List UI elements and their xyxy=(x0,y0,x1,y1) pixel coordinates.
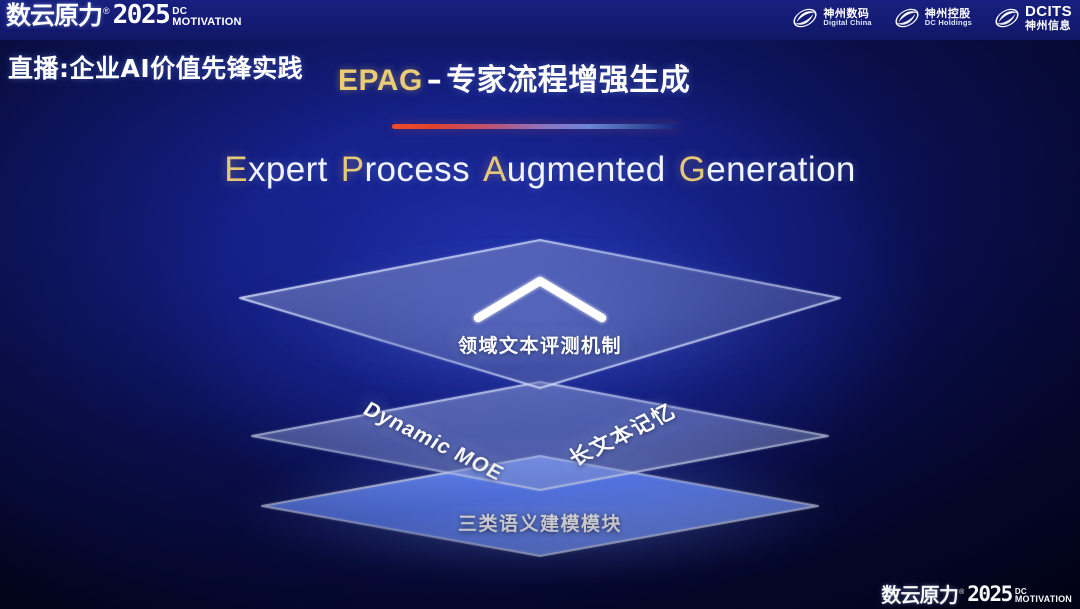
subtitle-word-capital: P xyxy=(341,150,365,189)
layer-bottom-label: 三类语义建模模块 xyxy=(0,509,1080,536)
footer-brand-dc-motivation: DC MOTIVATION xyxy=(1015,588,1072,604)
swoosh-icon xyxy=(994,5,1020,31)
subtitle-word-capital: A xyxy=(483,150,507,189)
layer-top-domain-evaluation xyxy=(240,240,840,388)
partner-name-cn: 神州信息 xyxy=(1025,20,1072,32)
layer-middle-left-label: Dynamic MOE xyxy=(358,398,508,486)
livestream-title: 直播:企业AI价值先锋实践 xyxy=(8,49,303,85)
partner-logo-dcits: DCITS 神州信息 xyxy=(994,4,1072,31)
gradient-divider xyxy=(392,124,680,129)
subtitle-word-capital: G xyxy=(679,150,707,189)
brand-logo: 数云原力 ® 2025 DC MOTIVATION xyxy=(6,2,242,28)
subtitle-word: Expert xyxy=(224,150,328,190)
partner-name-en: DCITS xyxy=(1025,4,1072,20)
footer-brand-cn: 数云原力 xyxy=(881,585,958,605)
partner-logo-dc-holdings: 神州控股 DC Holdings xyxy=(894,5,972,31)
subtitle-word-rest: xpert xyxy=(248,150,328,189)
layer-middle-dynamic-moe xyxy=(252,382,828,490)
subtitle-expansion: ExpertProcessAugmentedGeneration xyxy=(0,150,1080,190)
subtitle-word: Augmented xyxy=(483,150,666,190)
bottom-layer-glow xyxy=(230,440,850,584)
page-title-chinese: 专家流程增强生成 xyxy=(446,63,690,98)
page-title-acronym: EPAG xyxy=(338,64,423,97)
chevron-up-icon xyxy=(478,281,602,318)
partner-logo-digital-china: 神州数码 Digital China xyxy=(792,5,871,31)
slide-canvas: 领域文本评测机制 Dynamic MOE 长文本记忆 三类语义建模模块 数云原力… xyxy=(0,0,1080,609)
page-title-dash: – xyxy=(423,63,447,98)
brand-logo-year: 2025 xyxy=(113,2,170,28)
brand-registered-mark: ® xyxy=(103,6,110,16)
layer-bottom-semantic-modules xyxy=(262,456,818,556)
partner-name-en: Digital China xyxy=(823,19,871,27)
footer-brand-watermark: 数云原力 ® 2025 DC MOTIVATION xyxy=(881,584,1072,605)
brand-logo-cn: 数云原力 xyxy=(6,3,102,28)
subtitle-word: Process xyxy=(341,150,470,190)
subtitle-word-rest: eneration xyxy=(706,150,856,189)
subtitle-word-rest: ugmented xyxy=(507,150,666,189)
brand-motivation-text: MOTIVATION xyxy=(172,17,241,27)
header-bar: 数云原力 ® 2025 DC MOTIVATION 神州数码 Digital C… xyxy=(0,0,1080,40)
swoosh-icon xyxy=(894,5,920,31)
page-title: EPAG–专家流程增强生成 xyxy=(338,55,690,99)
layer-top-label: 领域文本评测机制 xyxy=(0,331,1080,358)
layer-middle-right-label: 长文本记忆 xyxy=(562,396,682,472)
partner-name-en: DC Holdings xyxy=(925,19,972,27)
footer-motivation-text: MOTIVATION xyxy=(1015,595,1072,604)
swoosh-icon xyxy=(792,5,818,31)
subtitle-word-capital: E xyxy=(224,150,248,189)
footer-brand-registered-mark: ® xyxy=(959,589,964,596)
subtitle-word-rest: rocess xyxy=(365,150,471,189)
brand-logo-dc-motivation: DC MOTIVATION xyxy=(172,7,241,27)
footer-brand-year: 2025 xyxy=(967,584,1012,605)
subtitle-word: Generation xyxy=(679,150,856,190)
top-layer-glow xyxy=(240,236,840,400)
partner-logo-group: 神州数码 Digital China 神州控股 DC Holdings xyxy=(792,4,1072,31)
